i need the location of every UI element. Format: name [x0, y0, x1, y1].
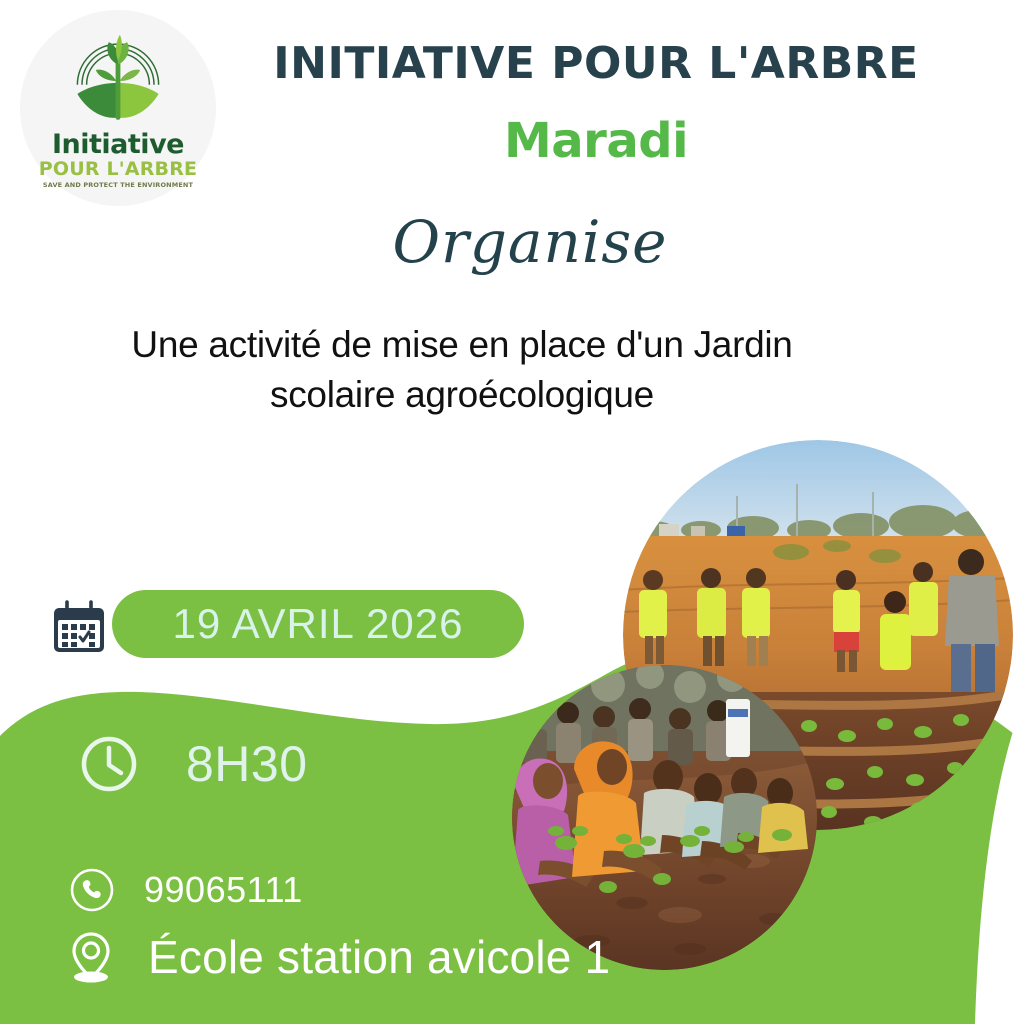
map-pin-icon	[62, 928, 120, 986]
organise-script-label: Organise	[180, 208, 880, 276]
location-value: École station avicole 1	[148, 930, 610, 984]
event-description: Une activité de mise en place d'un Jardi…	[62, 320, 862, 420]
date-value: 19 AVRIL 2026	[173, 600, 464, 648]
time-row: 8H30	[78, 733, 308, 795]
phone-icon	[68, 866, 116, 914]
event-poster: Initiative POUR L'ARBRE SAVE AND PROTECT…	[0, 0, 1024, 1024]
page-title: INITIATIVE POUR L'ARBRE	[246, 38, 946, 89]
plant-sprout-icon	[62, 33, 174, 129]
white-corner-wedge	[975, 700, 1024, 1024]
phone-value: 99065111	[144, 869, 303, 911]
logo-tagline: SAVE AND PROTECT THE ENVIRONMENT	[43, 182, 193, 189]
calendar-icon	[48, 596, 110, 658]
location-row[interactable]: École station avicole 1	[62, 928, 610, 986]
phone-row[interactable]: 99065111	[68, 866, 303, 914]
event-description-line-1: Une activité de mise en place d'un Jardi…	[62, 320, 862, 370]
clock-icon	[78, 733, 140, 795]
time-value: 8H30	[186, 735, 308, 793]
event-description-line-2: scolaire agroécologique	[62, 370, 862, 420]
logo-subtitle: POUR L'ARBRE	[39, 160, 198, 179]
logo-initiative-pour-larbre: Initiative POUR L'ARBRE SAVE AND PROTECT…	[20, 10, 216, 206]
city-subtitle: Maradi	[246, 113, 946, 169]
date-badge[interactable]: 19 AVRIL 2026	[112, 590, 524, 658]
logo-word: Initiative	[52, 131, 184, 158]
photo-children-planting	[512, 665, 817, 970]
